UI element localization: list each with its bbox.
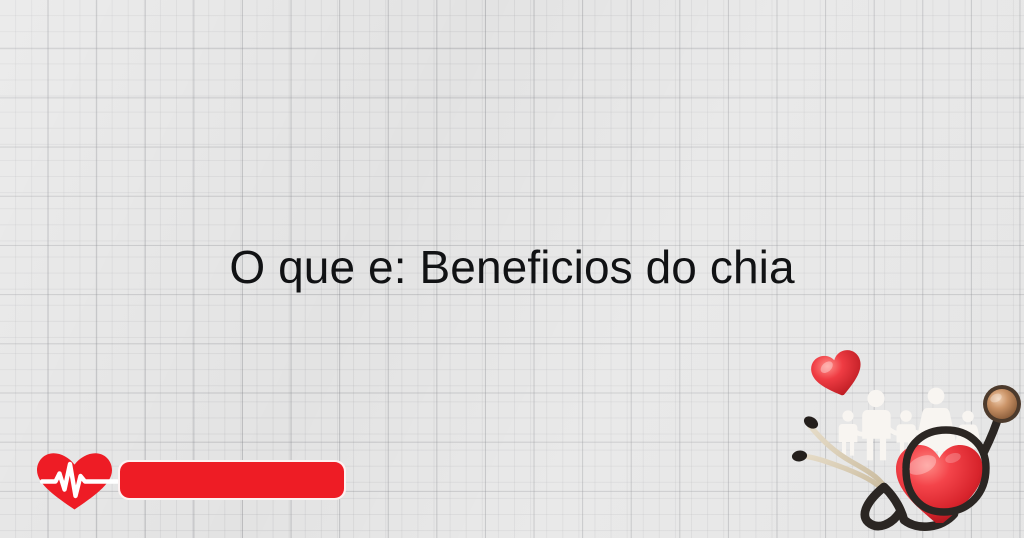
- brand-badge: [118, 460, 346, 500]
- small-red-heart: [808, 348, 867, 401]
- brand-logo: COREUS SAÚDE: [28, 448, 348, 510]
- stethoscope-chestpiece: [983, 385, 1021, 452]
- stethoscope-earpieces: [791, 414, 820, 463]
- health-collage: [772, 348, 1024, 538]
- page-title: O que e: Beneficios do chia: [0, 240, 1024, 294]
- slide-canvas: O que e: Beneficios do chia COREUS SAÚDE: [0, 0, 1024, 538]
- family-adult-male: [862, 390, 891, 461]
